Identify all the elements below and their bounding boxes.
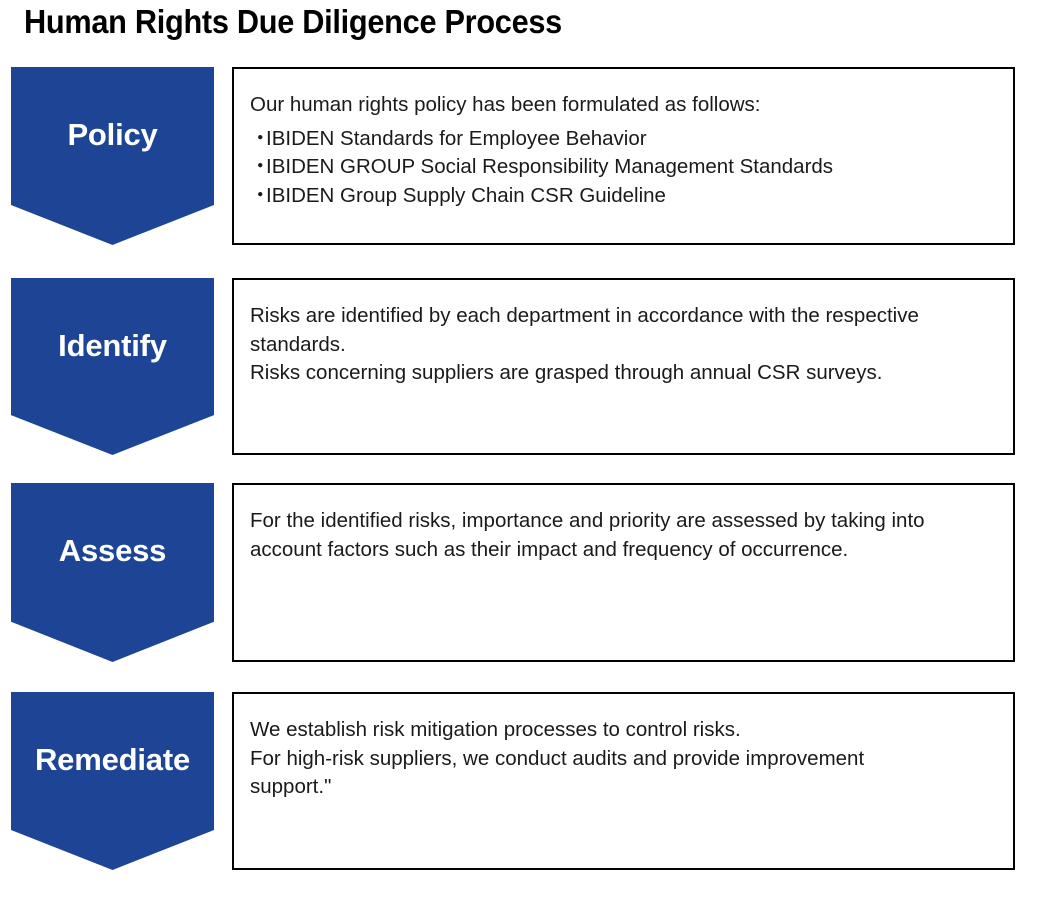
stage-pennant-identify: Identify: [11, 278, 214, 455]
stage-body-text: Risks are identified by each department …: [250, 302, 965, 388]
page-title: Human Rights Due Diligence Process: [24, 0, 562, 44]
stage-label: Assess: [59, 535, 166, 566]
stage-pennant-policy: Policy: [11, 67, 214, 245]
stage-intro-text: Our human rights policy has been formula…: [250, 91, 1013, 120]
list-item: ・ IBIDEN Standards for Employee Behavior: [250, 125, 1013, 154]
stage-description-box-identify: Risks are identified by each department …: [232, 278, 1015, 455]
stage-description-box-policy: Our human rights policy has been formula…: [232, 67, 1015, 245]
stage-label: Remediate: [35, 744, 190, 775]
bullet-dot-icon: ・: [250, 125, 271, 154]
list-item-label: IBIDEN Standards for Employee Behavior: [266, 127, 647, 150]
stage-bullet-list: ・ IBIDEN Standards for Employee Behavior…: [250, 125, 1013, 211]
list-item-label: IBIDEN GROUP Social Responsibility Manag…: [266, 155, 833, 178]
diagram-canvas: Human Rights Due Diligence Process Polic…: [0, 0, 1037, 902]
stage-body-text: For the identified risks, importance and…: [250, 507, 972, 564]
list-item-label: IBIDEN Group Supply Chain CSR Guideline: [266, 184, 666, 207]
stage-body-text: We establish risk mitigation processes t…: [250, 716, 910, 802]
stage-pennant-remediate: Remediate: [11, 692, 214, 870]
process-stage-row: Policy Our human rights policy has been …: [0, 67, 1037, 245]
process-stage-row: Assess For the identified risks, importa…: [0, 483, 1037, 662]
list-item: ・ IBIDEN GROUP Social Responsibility Man…: [250, 153, 1013, 182]
process-stage-row: Identify Risks are identified by each de…: [0, 278, 1037, 455]
stage-pennant-assess: Assess: [11, 483, 214, 662]
stage-description-box-assess: For the identified risks, importance and…: [232, 483, 1015, 662]
stage-label: Identify: [58, 330, 167, 361]
list-item: ・ IBIDEN Group Supply Chain CSR Guidelin…: [250, 182, 1013, 211]
bullet-dot-icon: ・: [250, 182, 271, 211]
process-stage-row: Remediate We establish risk mitigation p…: [0, 692, 1037, 870]
bullet-dot-icon: ・: [250, 153, 271, 182]
stage-description-box-remediate: We establish risk mitigation processes t…: [232, 692, 1015, 870]
stage-label: Policy: [67, 119, 157, 150]
